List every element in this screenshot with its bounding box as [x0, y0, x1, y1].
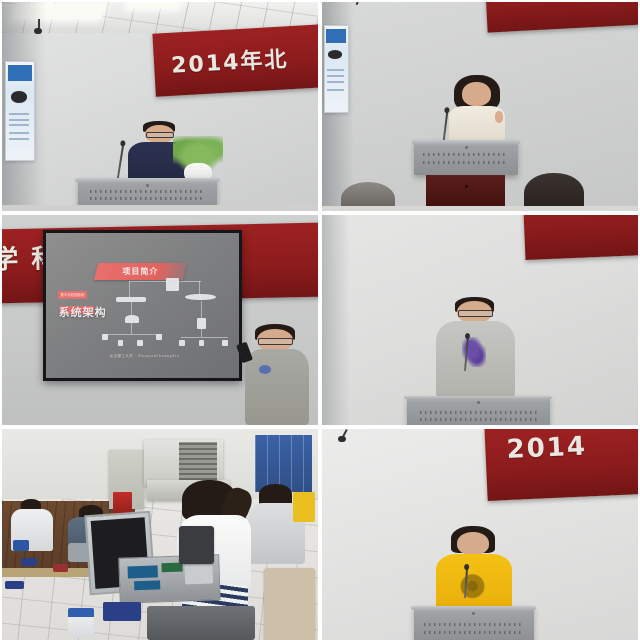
- podium-vent: [423, 153, 508, 156]
- event-banner-text: 2014年北: [170, 41, 289, 79]
- diagram-edge: [129, 281, 130, 297]
- presenter-person: [436, 297, 515, 398]
- presenter-person: [445, 75, 508, 146]
- poster-header: [326, 29, 346, 43]
- podium-base: [426, 175, 505, 206]
- chair-back: [179, 526, 214, 564]
- podium-vent: [420, 411, 537, 414]
- event-banner-text: 2014年: [510, 2, 601, 5]
- podium: [414, 606, 534, 640]
- presenter-head: [462, 82, 490, 106]
- diagram-leaf-node: [118, 340, 124, 346]
- event-banner: 2014: [485, 429, 638, 500]
- poster-image: [328, 50, 342, 59]
- photo-collage: 2014年北: [0, 0, 640, 640]
- diagram-leaf-node: [137, 340, 143, 346]
- student-hair: [259, 484, 292, 505]
- podium-vent: [420, 418, 537, 421]
- equipment-bag: [147, 606, 254, 640]
- diagram-leaf-node: [222, 340, 228, 346]
- poster-image: [11, 91, 28, 103]
- event-banner: 2014年北: [152, 24, 318, 96]
- presenter-torso: [245, 349, 308, 425]
- presenter-person: [436, 526, 512, 615]
- podium-top: [75, 178, 220, 182]
- water-bottle: [68, 608, 93, 638]
- diagram-leaf-node: [102, 334, 108, 340]
- podium: [407, 396, 549, 425]
- collage-panel-4[interactable]: [322, 215, 638, 425]
- event-banner-text: 2014: [506, 431, 588, 465]
- student-shoe: [13, 540, 29, 552]
- bottle-lid: [68, 608, 93, 616]
- podium-knob-icon: [477, 401, 480, 404]
- diagram-hub-node: [125, 315, 139, 322]
- diagram-edge: [179, 281, 200, 282]
- student-left: [11, 499, 52, 552]
- poster-header: [8, 65, 32, 81]
- tshirt-graphic: [259, 365, 270, 374]
- collage-panel-5[interactable]: [2, 429, 318, 640]
- glasses-icon: [146, 132, 174, 138]
- shelf-contents: [179, 442, 217, 480]
- panel4-corner-shadow: [322, 215, 350, 425]
- podium-knob-icon: [465, 146, 468, 149]
- diagram-leaf-node: [199, 340, 205, 346]
- panel2-desk-line: [322, 206, 638, 211]
- diagram-edge: [201, 301, 202, 318]
- circuit-board: [161, 562, 183, 572]
- wall-poster: [5, 61, 35, 161]
- podium: [414, 140, 518, 176]
- diagram-edge: [181, 337, 227, 338]
- slide-tag-label: 数字化校园系统: [58, 291, 88, 299]
- presenter-head: [457, 532, 489, 555]
- podium-vent: [423, 161, 508, 164]
- presentation-slide: 项目简介: [46, 233, 239, 378]
- ceiling-light-icon: [127, 2, 180, 8]
- diagram-client-node: [197, 318, 207, 328]
- podium-knob-icon: [146, 184, 149, 187]
- wall-poster: [324, 25, 349, 113]
- diagram-edge: [131, 323, 132, 335]
- diagram-switch-node: [116, 297, 147, 302]
- event-banner: [523, 215, 638, 260]
- circuit-board: [134, 580, 160, 590]
- collage-panel-2[interactable]: 2014年: [322, 2, 638, 211]
- diagram-edge: [129, 281, 168, 282]
- podium-vent: [424, 631, 522, 634]
- diagram-edge: [131, 302, 132, 315]
- slide-footer: 北京理工大学 · ZhuoyueChuangXin: [110, 353, 179, 358]
- glasses-icon: [458, 310, 493, 317]
- projection-screen-surface: 项目简介: [46, 233, 239, 378]
- podium-top: [412, 140, 520, 144]
- robot-kit: [5, 581, 24, 589]
- robot-kit: [103, 602, 141, 621]
- diagram-leaf-node: [179, 340, 185, 346]
- podium-vent: [90, 190, 204, 193]
- collage-panel-6[interactable]: 2014: [322, 429, 638, 640]
- collage-panel-3[interactable]: 学 科技创 项目简介: [2, 215, 318, 425]
- podium-knob-icon: [472, 612, 475, 615]
- podium-top: [411, 606, 536, 610]
- tshirt-graphic: [455, 570, 490, 605]
- diagram-leaf-node: [156, 334, 162, 340]
- panel1-floor: [2, 205, 318, 211]
- podium-top: [404, 396, 552, 400]
- diagram-edge: [104, 334, 162, 335]
- diagram-ap-node: [185, 294, 216, 301]
- glasses-icon: [258, 338, 293, 345]
- diagram-edge: [201, 329, 202, 338]
- circuit-board: [127, 565, 157, 578]
- presenter-person: [245, 324, 308, 425]
- diagram-edge: [199, 281, 200, 294]
- laptop-device: [185, 564, 213, 584]
- yellow-object: [293, 492, 315, 522]
- podium-vent: [424, 623, 522, 626]
- slide-heading: 系统架构: [59, 304, 107, 320]
- podium-base-dot: [465, 185, 468, 188]
- projection-screen[interactable]: 项目简介: [43, 230, 242, 381]
- collage-panel-1[interactable]: 2014年北: [2, 2, 318, 211]
- office-chair: [264, 568, 315, 640]
- diagram-server-node: [166, 278, 180, 291]
- podium-vent: [90, 197, 204, 200]
- robot-kit: [53, 564, 69, 572]
- robot-kit: [21, 558, 37, 566]
